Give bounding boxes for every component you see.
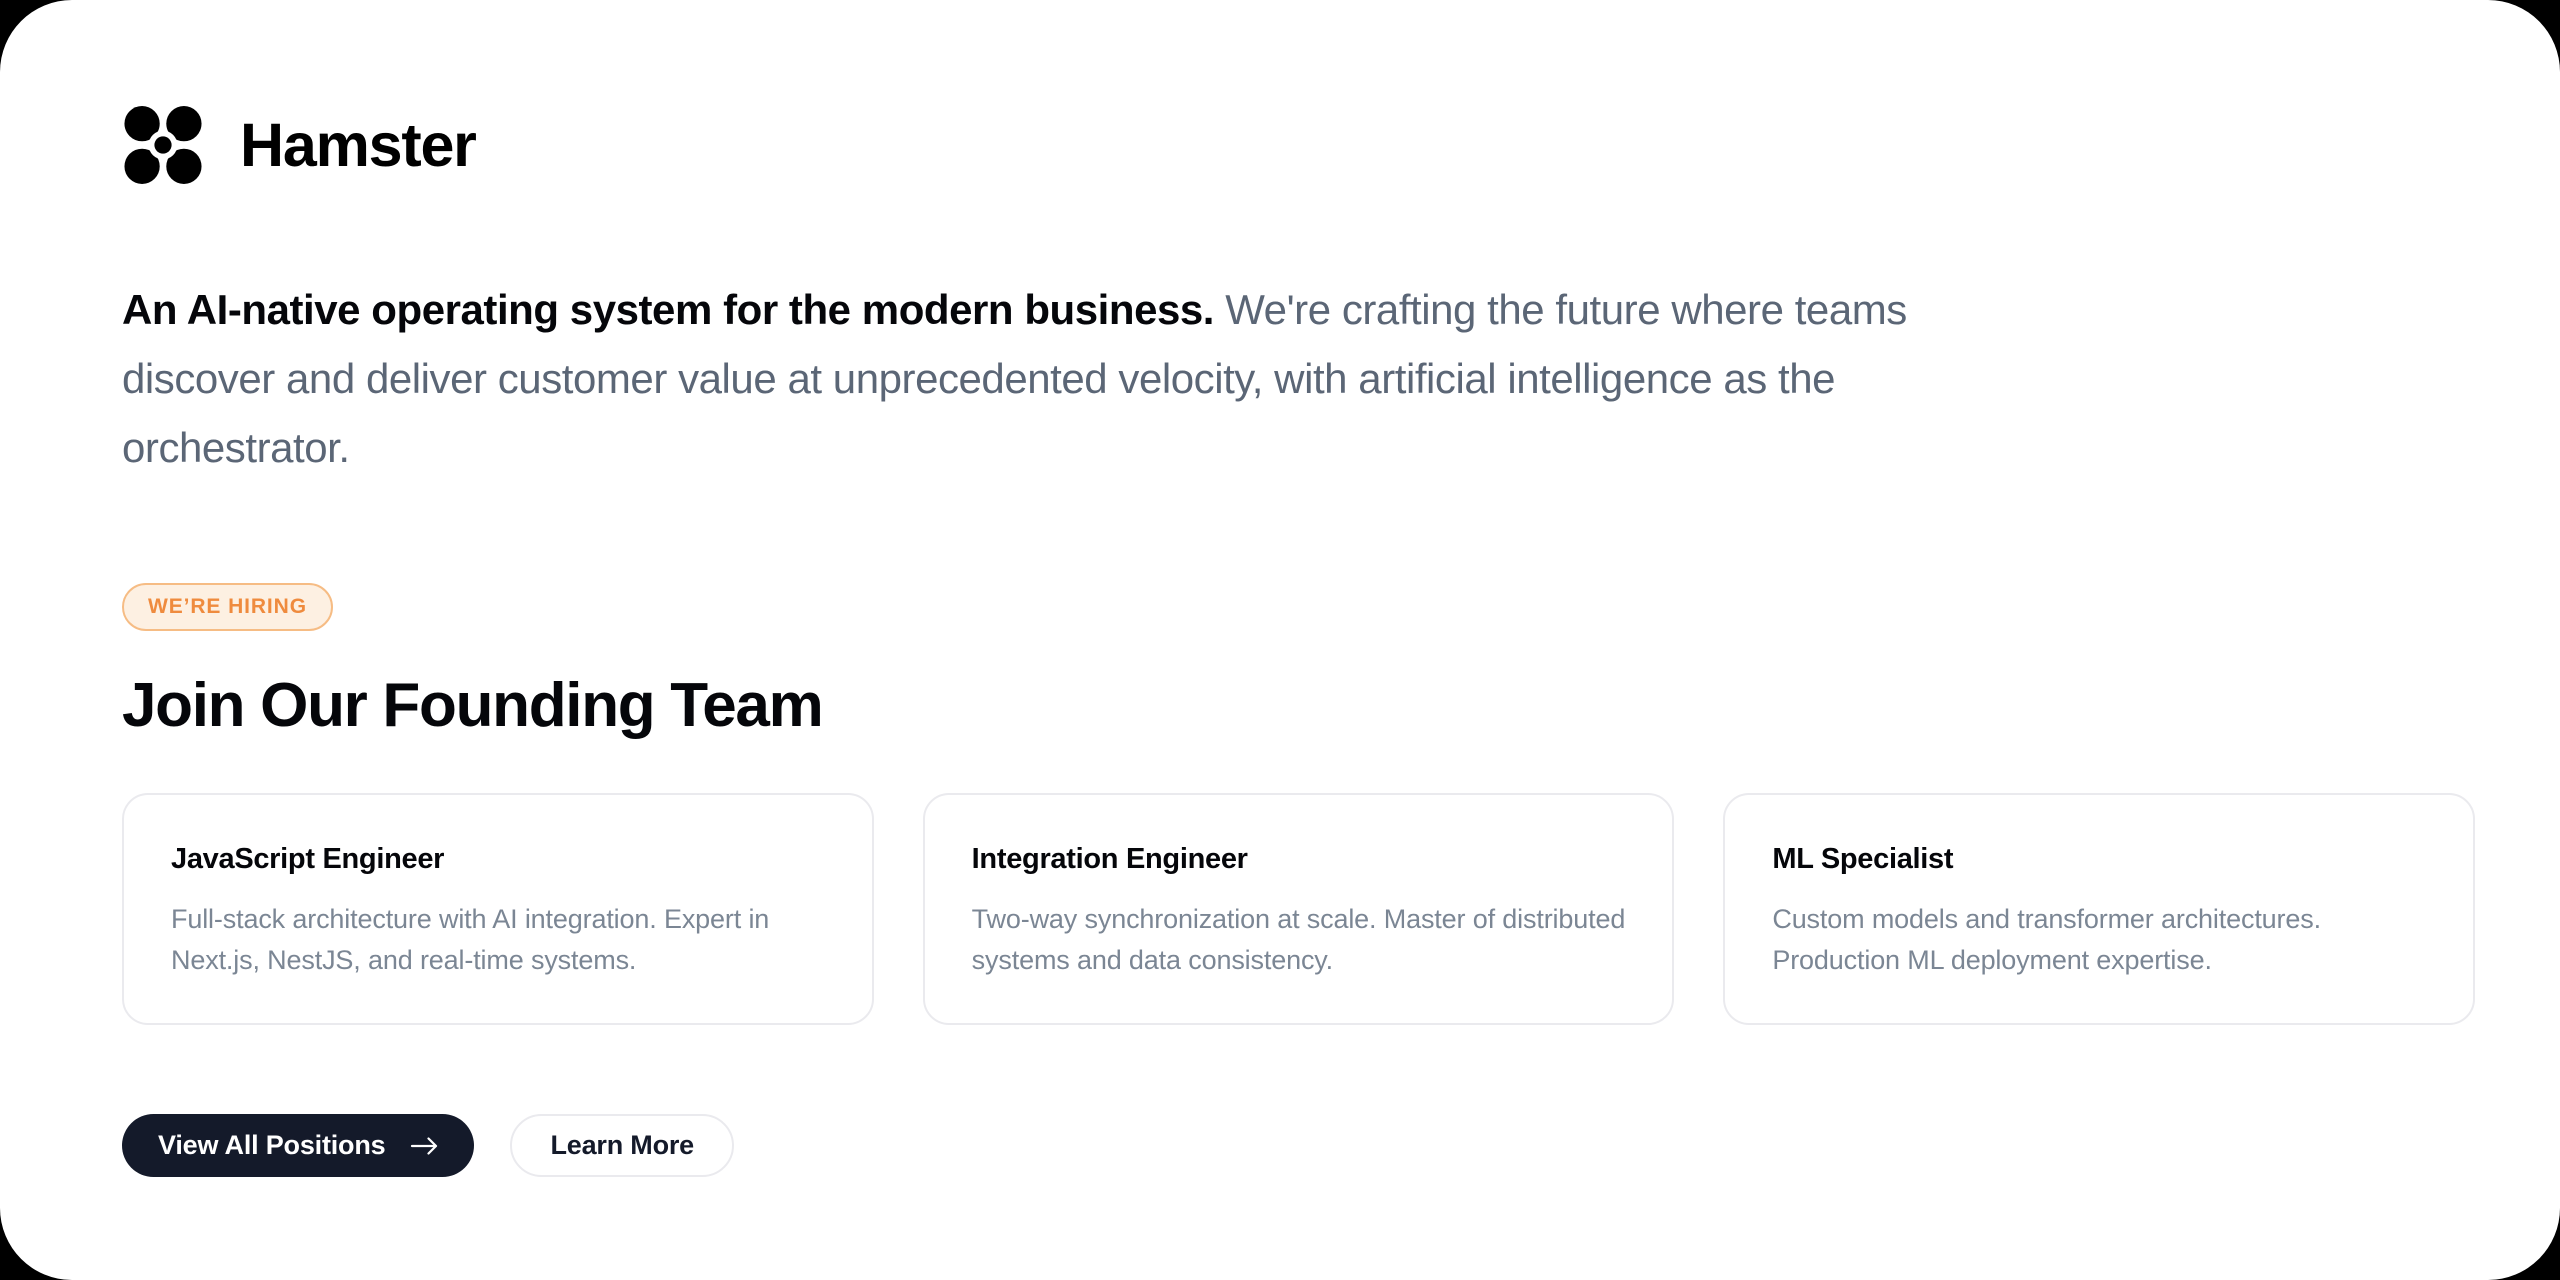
arrow-right-icon (410, 1136, 440, 1156)
job-card-description: Full-stack architecture with AI integrat… (171, 899, 830, 981)
hero-paragraph: An AI-native operating system for the mo… (122, 275, 1912, 482)
hero-lead-text: An AI-native operating system for the mo… (122, 286, 1214, 333)
job-card[interactable]: JavaScript Engineer Full-stack architect… (122, 793, 874, 1025)
job-card-title: ML Specialist (1772, 842, 2431, 877)
job-card[interactable]: ML Specialist Custom models and transfor… (1723, 793, 2475, 1025)
hamster-clover-logo-icon (122, 104, 204, 186)
job-card[interactable]: Integration Engineer Two-way synchroniza… (923, 793, 1675, 1025)
brand-name: Hamster (240, 115, 476, 176)
brand-logo[interactable]: Hamster (122, 104, 476, 186)
job-card-list: JavaScript Engineer Full-stack architect… (122, 793, 2475, 1025)
job-card-description: Custom models and transformer architectu… (1772, 899, 2431, 981)
status-badge-hiring: WE’RE HIRING (122, 583, 333, 631)
job-card-title: JavaScript Engineer (171, 842, 830, 877)
view-all-positions-button[interactable]: View All Positions (122, 1114, 474, 1177)
page-content: Hamster An AI-native operating system fo… (122, 0, 2482, 1280)
page-title: Join Our Founding Team (122, 670, 822, 741)
view-all-positions-label: View All Positions (158, 1130, 385, 1161)
action-button-group: View All Positions Learn More (122, 1114, 734, 1177)
job-card-description: Two-way synchronization at scale. Master… (972, 899, 1631, 981)
job-card-title: Integration Engineer (972, 842, 1631, 877)
page-panel: Hamster An AI-native operating system fo… (0, 0, 2560, 1280)
learn-more-button[interactable]: Learn More (510, 1114, 734, 1177)
